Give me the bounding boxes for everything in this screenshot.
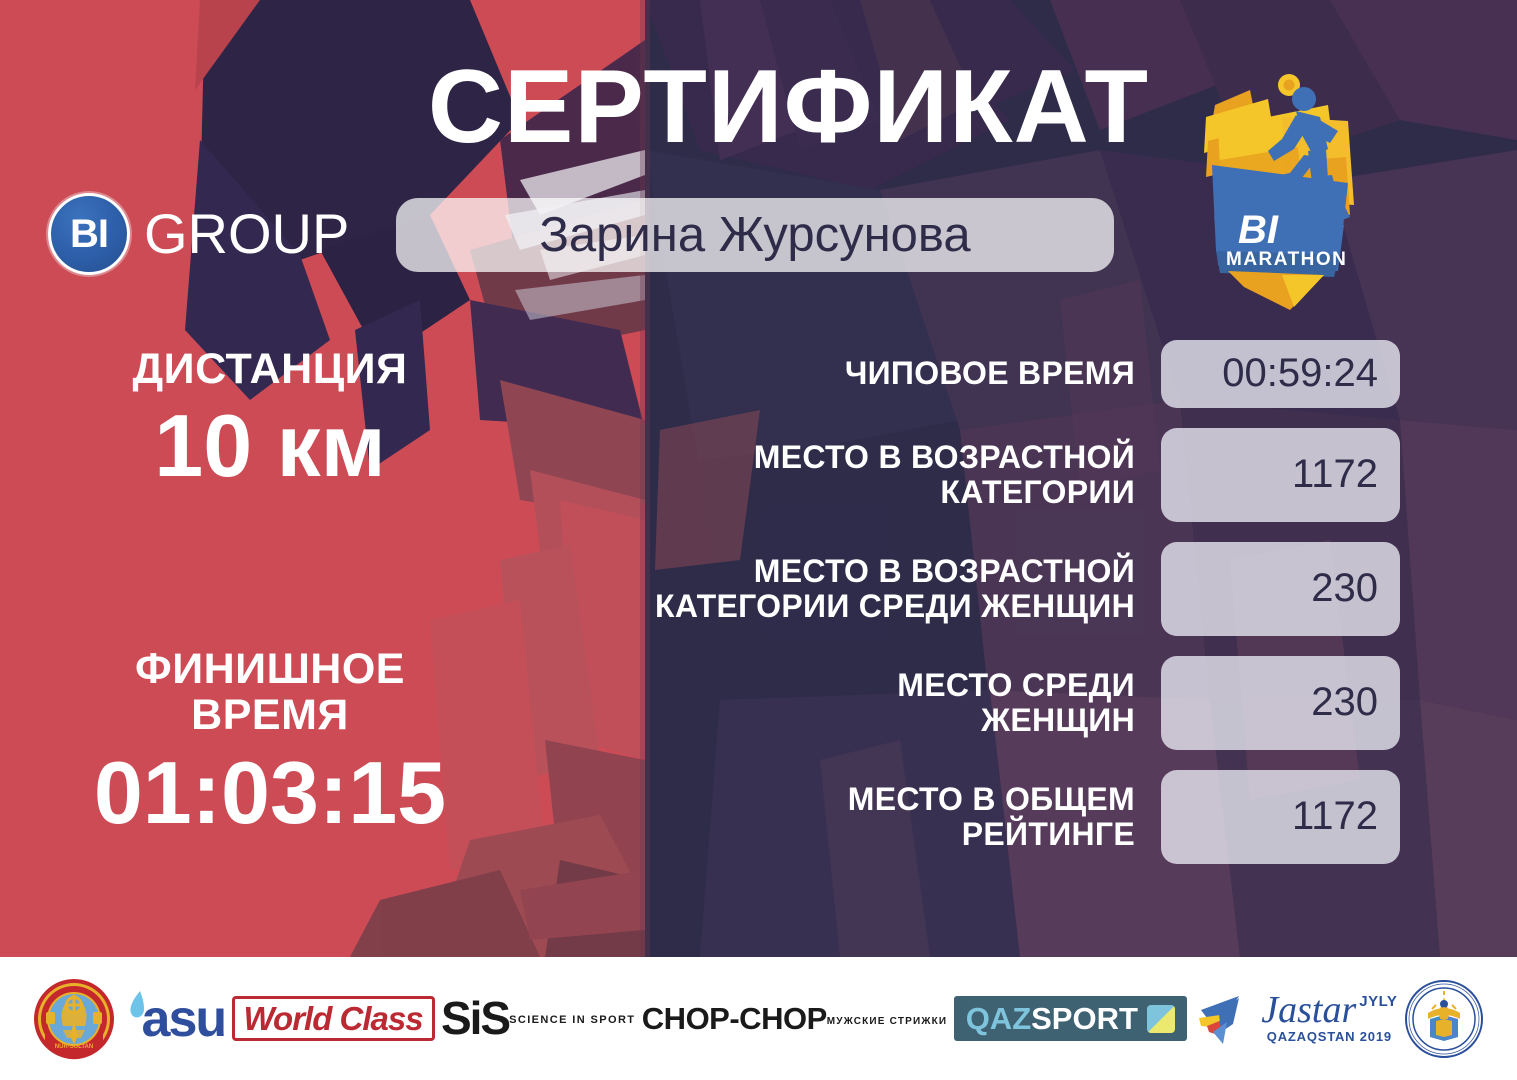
distance-value: 10 км	[10, 398, 530, 495]
participant-name-pill: Зарина Журсунова	[396, 198, 1114, 272]
certificate-canvas: СЕРТИФИКАТ BI GROUP Зарина Журсунова	[0, 0, 1517, 1080]
stat-label: МЕСТО В ОБЩЕМ РЕЙТИНГЕ	[610, 782, 1161, 852]
stat-row: МЕСТО СРЕДИ ЖЕНЩИН 230	[610, 656, 1400, 750]
sponsor-jastar-subtext: QAZAQSTAN 2019	[1261, 1029, 1397, 1044]
stat-label: МЕСТО В ВОЗРАСТНОЙ КАТЕГОРИИ СРЕДИ ЖЕНЩИ…	[610, 554, 1161, 624]
bi-group-logo: BI GROUP	[48, 193, 349, 275]
stat-value: 1172	[1161, 428, 1400, 522]
stat-value: 230	[1161, 656, 1400, 750]
sponsor-world-class-text: World Class	[244, 1002, 423, 1035]
sponsor-asu: asu	[122, 989, 226, 1049]
sponsor-jastar-jyly: JYLY	[1359, 993, 1397, 1010]
stat-value: 00:59:24	[1161, 340, 1400, 408]
nur-sultan-emblem-icon: NUR-SULTAN	[33, 978, 115, 1060]
stat-row: МЕСТО В ВОЗРАСТНОЙ КАТЕГОРИИ 1172	[610, 428, 1400, 522]
sponsor-ministry-seal	[1404, 979, 1484, 1059]
stat-value: 1172	[1161, 770, 1400, 864]
sponsor-qazsport: QAZ SPORT	[954, 996, 1187, 1041]
sponsor-chop-chop-subtext: МУЖСКИЕ СТРИЖКИ	[827, 1016, 948, 1027]
marathon-logo-line1: BI	[1238, 208, 1279, 252]
qazsport-mark-icon	[1147, 1005, 1175, 1033]
sponsor-sis-text: SiS	[441, 997, 509, 1041]
sponsor-chop-chop: CHOP-CHOP МУЖСКИЕ СТРИЖКИ	[642, 1003, 948, 1034]
sponsor-qazsport-text-a: QAZ	[966, 1003, 1031, 1034]
sponsor-jastar-text: Jastar	[1261, 993, 1356, 1027]
sponsor-nur-sultan: NUR-SULTAN	[33, 978, 115, 1060]
jastar-bird-icon	[1193, 988, 1255, 1050]
svg-text:NUR-SULTAN: NUR-SULTAN	[55, 1044, 93, 1050]
sponsor-sis: SiS SCIENCE IN SPORT	[441, 997, 635, 1041]
sponsor-asu-text: asu	[142, 993, 226, 1045]
stat-label: МЕСТО СРЕДИ ЖЕНЩИН	[610, 668, 1161, 738]
bi-circle-icon: BI	[48, 193, 130, 275]
sponsor-qazsport-text-b: SPORT	[1031, 1003, 1138, 1034]
stat-row: ЧИПОВОЕ ВРЕМЯ 00:59:24	[610, 340, 1400, 408]
sponsor-bar: NUR-SULTAN asu World Class SiS SCIENCE I…	[0, 957, 1517, 1080]
sponsor-chop-chop-text: CHOP-CHOP	[642, 1003, 827, 1034]
distance-label: ДИСТАНЦИЯ	[10, 346, 530, 392]
sponsor-sis-subtext: SCIENCE IN SPORT	[509, 1014, 635, 1026]
marathon-logo-line2: MARATHON	[1226, 249, 1347, 270]
bi-badge-text: BI	[70, 214, 108, 254]
finish-time-block: ФИНИШНОЕ ВРЕМЯ 01:03:15	[10, 646, 530, 842]
stat-value: 230	[1161, 542, 1400, 636]
finish-time-label: ФИНИШНОЕ ВРЕМЯ	[10, 646, 530, 739]
sponsor-world-class: World Class	[232, 996, 435, 1041]
stat-row: МЕСТО В ОБЩЕМ РЕЙТИНГЕ 1172	[610, 770, 1400, 864]
finish-time-value: 01:03:15	[10, 745, 530, 842]
bi-group-wordmark: GROUP	[144, 206, 349, 262]
ministry-seal-icon	[1404, 979, 1484, 1059]
stat-label: ЧИПОВОЕ ВРЕМЯ	[610, 356, 1161, 391]
distance-block: ДИСТАНЦИЯ 10 км	[10, 346, 530, 495]
stats-panel: ЧИПОВОЕ ВРЕМЯ 00:59:24 МЕСТО В ВОЗРАСТНО…	[610, 340, 1400, 884]
stat-label: МЕСТО В ВОЗРАСТНОЙ КАТЕГОРИИ	[610, 440, 1161, 510]
bi-marathon-logo: BI MARATHON	[1178, 65, 1398, 315]
sponsor-jastar: Jastar JYLY QAZAQSTAN 2019	[1193, 988, 1397, 1050]
stat-row: МЕСТО В ВОЗРАСТНОЙ КАТЕГОРИИ СРЕДИ ЖЕНЩИ…	[610, 542, 1400, 636]
participant-name: Зарина Журсунова	[539, 211, 970, 260]
